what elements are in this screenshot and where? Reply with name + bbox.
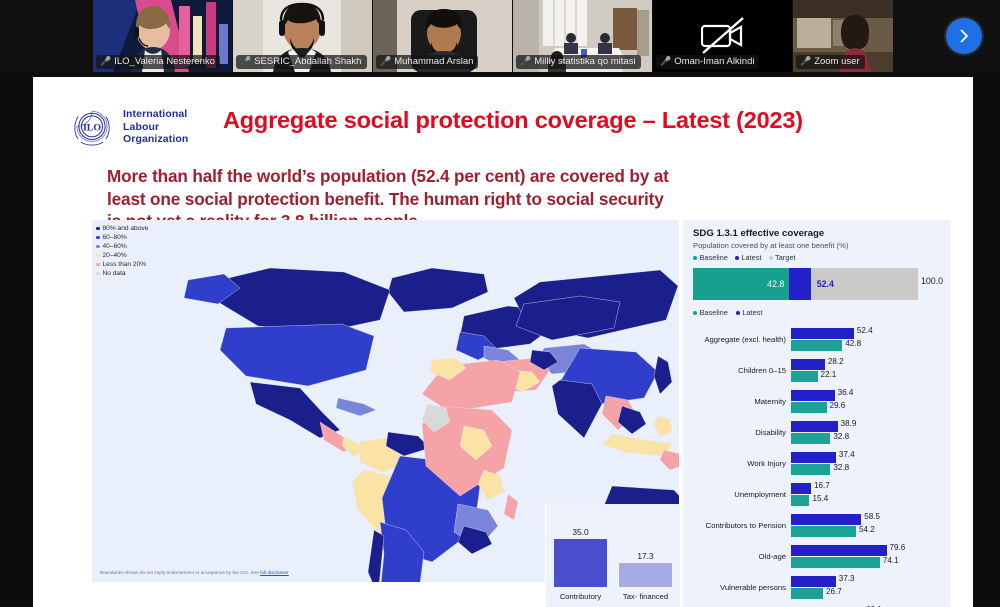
sdg-bar-pair: 38.932.8 xyxy=(791,420,951,445)
sdg-bar-row: Maternity36.429.6 xyxy=(683,386,951,417)
legend-item-latest: Latest xyxy=(736,308,763,317)
sdg-bar-row: Vulnerable persons37.326.7 xyxy=(683,572,951,603)
sdg-bar-row: Healthcare60.160.4 xyxy=(683,603,951,607)
slide-title: Aggregate social protection coverage – L… xyxy=(223,107,923,134)
legend-label: 60–80% xyxy=(103,233,127,242)
map-disclaimer: Boundaries shown do not imply endorsemen… xyxy=(100,570,289,575)
sdg-bar-row: Aggregate (excl. health)52.442.8 xyxy=(683,324,951,355)
sdg-bar-label: Old-age xyxy=(683,552,791,561)
sdg-value-latest: 38.9 xyxy=(841,419,857,428)
mini-bar-value: 35.0 xyxy=(572,527,588,537)
sdg-value-latest: 52.4 xyxy=(857,326,873,335)
sdg-bar-label: Unemployment xyxy=(683,490,791,499)
map-legend-item: 80% and above xyxy=(96,224,148,233)
mini-bar-label: Contributory xyxy=(554,592,607,601)
ilo-logo: ILO International Labour Organization xyxy=(69,106,188,148)
sdg-value-latest: 58.5 xyxy=(864,512,880,521)
participant-tile-2[interactable]: 🎤 SESRIC_Abdallah Shakhshir xyxy=(233,0,372,72)
sdg-coverage-panel: SDG 1.3.1 effective coverage Population … xyxy=(683,220,951,607)
sdg-bar-row: Children 0–1528.222.1 xyxy=(683,355,951,386)
sdg-bar-label: Work Injury xyxy=(683,459,791,468)
full-disclaimer-link[interactable]: full disclaimer xyxy=(260,570,289,575)
sdg-legend-bars: Baseline Latest xyxy=(693,308,763,317)
sdg-bar-latest xyxy=(791,452,836,463)
legend-swatch xyxy=(96,245,100,249)
microphone-muted-icon: 🎤 xyxy=(660,57,671,66)
sdg-bar-latest xyxy=(791,390,835,401)
participant-name-bar: 🎤 SESRIC_Abdallah Shakhshir xyxy=(236,55,367,69)
progress-baseline-segment: 42.8 xyxy=(693,268,789,300)
sdg-value-baseline: 32.8 xyxy=(833,432,849,441)
participant-tile-5[interactable]: 🎤 Oman-Iman Alkindi xyxy=(653,0,792,72)
sdg-bar-row: Disability38.932.8 xyxy=(683,417,951,448)
sdg-bar-latest xyxy=(791,328,854,339)
legend-label: Baseline xyxy=(700,253,728,262)
sdg-bar-baseline xyxy=(791,557,880,568)
legend-swatch xyxy=(96,254,100,258)
sdg-bar-latest xyxy=(791,421,838,432)
sdg-value-latest: 79.6 xyxy=(890,543,906,552)
sdg-value-baseline: 22.1 xyxy=(821,370,837,379)
map-legend-item: No data xyxy=(96,269,148,278)
svg-text:ILO: ILO xyxy=(83,122,101,133)
chevron-right-icon xyxy=(956,28,972,44)
sdg-bar-row: Unemployment16.715.4 xyxy=(683,479,951,510)
sdg-bar-latest xyxy=(791,576,836,587)
microphone-muted-icon: 🎤 xyxy=(520,57,531,66)
sdg-bar-baseline xyxy=(791,526,856,537)
sdg-value-baseline: 74.1 xyxy=(883,556,899,565)
sdg-bar-pair: 28.222.1 xyxy=(791,358,951,383)
progress-target-value: 100.0 xyxy=(921,276,943,286)
sdg-value-baseline: 54.2 xyxy=(859,525,875,534)
sdg-panel-title: SDG 1.3.1 effective coverage xyxy=(693,228,824,239)
map-disclaimer-text: Boundaries shown do not imply endorsemen… xyxy=(100,570,260,575)
sdg-legend-top: Baseline Latest Target xyxy=(693,253,796,262)
legend-swatch xyxy=(693,256,697,260)
sdg-bar-pair: 79.674.1 xyxy=(791,544,951,569)
camera-off-icon xyxy=(701,16,745,56)
sdg-bar-pair: 36.429.6 xyxy=(791,389,951,414)
participant-tile-1[interactable]: 🎤 ILO_Valeria Nesterenko xyxy=(93,0,232,72)
legend-item-baseline: Baseline xyxy=(693,253,728,262)
sdg-bar-label: Children 0–15 xyxy=(683,366,791,375)
legend-swatch xyxy=(693,311,697,315)
sdg-value-baseline: 42.8 xyxy=(845,339,861,348)
sdg-bar-baseline xyxy=(791,588,823,599)
sdg-bar-label: Disability xyxy=(683,428,791,437)
sdg-bar-rows: Aggregate (excl. health)52.442.8Children… xyxy=(683,324,951,607)
sdg-bar-row: Old-age79.674.1 xyxy=(683,541,951,572)
microphone-muted-icon: 🎤 xyxy=(380,57,391,66)
participant-name: SESRIC_Abdallah Shakhshir xyxy=(254,56,362,67)
logo-line-2: Labour xyxy=(123,121,188,134)
sdg-bar-row: Contributors to Pension58.554.2 xyxy=(683,510,951,541)
sdg-value-latest: 37.3 xyxy=(839,574,855,583)
participant-name-bar: 🎤 Zoom user xyxy=(796,55,865,69)
sdg-bar-latest xyxy=(791,514,861,525)
participant-filmstrip: 🎤 ILO_Valeria Nesterenko xyxy=(0,0,1000,72)
sdg-value-latest: 16.7 xyxy=(814,481,830,490)
legend-swatch xyxy=(769,256,773,260)
sdg-bar-latest xyxy=(791,483,811,494)
legend-label: 80% and above xyxy=(103,224,149,233)
legend-label: Baseline xyxy=(700,308,728,317)
map-legend-item: 60–80% xyxy=(96,233,148,242)
legend-swatch xyxy=(96,263,100,267)
sdg-value-latest: 36.4 xyxy=(838,388,854,397)
mini-bar-label: Tax- financed xyxy=(619,592,672,601)
mini-bar-group: 35.0 xyxy=(554,521,607,587)
sdg-bar-baseline xyxy=(791,340,842,351)
sdg-bar-pair: 37.432.8 xyxy=(791,451,951,476)
legend-swatch xyxy=(96,272,100,276)
legend-label: 20–40% xyxy=(103,251,127,260)
sdg-bar-latest xyxy=(791,359,825,370)
aggregate-progress-bar: 42.8 52.4 xyxy=(693,268,918,300)
participant-tile-3[interactable]: 🎤 Muhammad Arslan xyxy=(373,0,512,72)
mini-bar-contributory xyxy=(554,539,607,587)
sdg-bar-pair: 37.326.7 xyxy=(791,575,951,600)
sdg-bar-baseline xyxy=(791,371,818,382)
legend-item-target: Target xyxy=(769,253,796,262)
legend-item-latest: Latest xyxy=(735,253,762,262)
participant-name-bar: 🎤 Milliy statistika qo mitasi xyxy=(516,55,641,69)
logo-line-1: International xyxy=(123,108,188,121)
sdg-value-baseline: 15.4 xyxy=(812,494,828,503)
sdg-bar-row: Work Injury37.432.8 xyxy=(683,448,951,479)
sdg-bar-baseline xyxy=(791,464,830,475)
progress-latest-value: 52.4 xyxy=(817,279,834,289)
presentation-slide: ILO International Labour Organization Ag… xyxy=(33,77,973,607)
legend-label: Latest xyxy=(741,253,761,262)
participant-name-bar: 🎤 Oman-Iman Alkindi xyxy=(656,55,759,69)
sdg-bar-pair: 52.442.8 xyxy=(791,327,951,352)
legend-swatch xyxy=(735,256,739,260)
participant-name: Zoom user xyxy=(814,56,859,67)
participant-tile-6[interactable]: 🎤 Zoom user xyxy=(793,0,893,72)
legend-swatch xyxy=(96,236,100,240)
microphone-muted-icon: 🎤 xyxy=(800,57,811,66)
sdg-value-baseline: 29.6 xyxy=(830,401,846,410)
participant-name: ILO_Valeria Nesterenko xyxy=(114,56,215,67)
sdg-bar-baseline xyxy=(791,402,827,413)
map-legend-item: Less than 20% xyxy=(96,260,148,269)
participant-tile-4[interactable]: 🎤 Milliy statistika qo mitasi xyxy=(513,0,652,72)
legend-swatch xyxy=(736,311,740,315)
mini-bar-group: 17.3 xyxy=(619,521,672,587)
participant-name: Oman-Iman Alkindi xyxy=(674,56,754,67)
contributory-taxfinanced-chart: 35.0 17.3 Contributory Tax- financed xyxy=(545,504,680,607)
sdg-bar-label: Maternity xyxy=(683,397,791,406)
legend-label: 40–60% xyxy=(103,242,127,251)
participant-name-bar: 🎤 Muhammad Arslan xyxy=(376,55,478,69)
logo-line-3: Organization xyxy=(123,133,188,146)
sdg-bar-latest xyxy=(791,545,887,556)
progress-latest-marker xyxy=(789,268,811,300)
sdg-bar-label: Aggregate (excl. health) xyxy=(683,335,791,344)
sdg-bar-baseline xyxy=(791,433,830,444)
sdg-value-latest: 28.2 xyxy=(828,357,844,366)
screen: 🎤 ILO_Valeria Nesterenko xyxy=(0,0,1000,607)
ilo-emblem-icon: ILO xyxy=(69,106,115,148)
sdg-bar-pair: 16.715.4 xyxy=(791,482,951,507)
legend-label: No data xyxy=(103,269,126,278)
legend-item-baseline: Baseline xyxy=(693,308,728,317)
sdg-bar-pair: 58.554.2 xyxy=(791,513,951,538)
legend-swatch xyxy=(96,227,100,231)
ilo-logo-text: International Labour Organization xyxy=(123,108,188,146)
mini-bar-value: 17.3 xyxy=(637,551,653,561)
progress-baseline-value: 42.8 xyxy=(767,279,784,289)
sdg-value-baseline: 32.8 xyxy=(833,463,849,472)
next-participants-button[interactable] xyxy=(946,18,982,54)
map-legend-item: 20–40% xyxy=(96,251,148,260)
sdg-bar-label: Vulnerable persons xyxy=(683,583,791,592)
sdg-value-latest: 37.4 xyxy=(839,450,855,459)
sdg-bar-baseline xyxy=(791,495,809,506)
map-legend: 80% and above 60–80% 40–60% 20–40% Less … xyxy=(96,224,148,278)
microphone-icon: 🎤 xyxy=(100,57,111,66)
sdg-value-baseline: 26.7 xyxy=(826,587,842,596)
sdg-panel-subtitle: Population covered by at least one benef… xyxy=(693,241,848,250)
participant-name: Muhammad Arslan xyxy=(394,56,473,67)
legend-label: Less than 20% xyxy=(103,260,147,269)
legend-label: Target xyxy=(775,253,796,262)
sdg-bar-label: Contributors to Pension xyxy=(683,521,791,530)
legend-label: Latest xyxy=(742,308,762,317)
participant-name: Milliy statistika qo mitasi xyxy=(534,56,635,67)
map-legend-item: 40–60% xyxy=(96,242,148,251)
participant-name-bar: 🎤 ILO_Valeria Nesterenko xyxy=(96,55,220,69)
mini-bar-taxfinanced xyxy=(619,563,672,587)
microphone-muted-icon: 🎤 xyxy=(240,57,251,66)
